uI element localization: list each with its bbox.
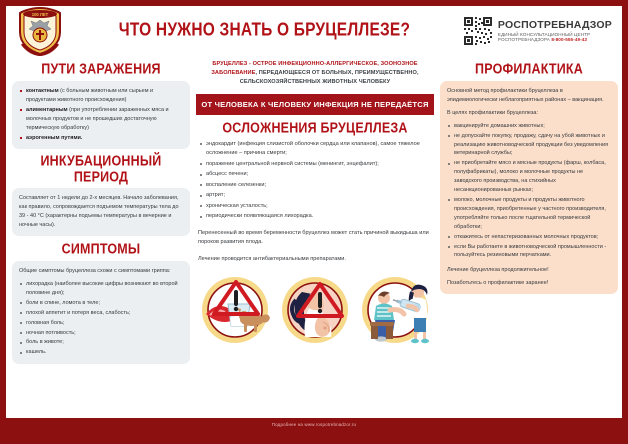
list-item: хроническая усталость; [198,202,432,212]
prevention-list: вакцинируйте домашних животных; не допус… [447,122,611,261]
transmission-card: контактным (с больным животным или сырье… [12,81,190,149]
incubation-text: Составляет от 1 недели до 2-х месяцев. Н… [19,194,183,230]
complications-list: эндокардит (инфекция слизистой оболочки … [198,140,432,222]
brand-phone[interactable]: 8-800-555-49-43 [551,37,587,42]
column-middle: БРУЦЕЛЛЕЗ - ОСТРОЕ ИНФЕКЦИОННО-АЛЛЕРГИЧЕ… [196,56,434,364]
treatment-note: Лечение проводится антибактериальными пр… [198,255,432,265]
symptoms-title: СИМПТОМЫ [12,241,190,257]
brand-text-block: РОСПОТРЕБНАДЗОР ЕДИНЫЙ КОНСУЛЬТАЦИОННЫЙ … [498,20,612,42]
prevention-list-intro: В целях профилактики бруцеллеза: [447,109,611,118]
footer-text[interactable]: Подробнее на www.rospotrebnadzor.ru [272,422,356,427]
pregnancy-note: Перенесенный во время беременности бруце… [198,229,432,248]
column-right: ПРОФИЛАКТИКА Основной метод профилактики… [440,56,618,364]
no-human-transmission-banner: ОТ ЧЕЛОВЕКА К ЧЕЛОВЕКУ ИНФЕКЦИЯ НЕ ПЕРЕД… [196,94,434,115]
complications-list-wrap: эндокардит (инфекция слизистой оболочки … [196,140,434,222]
poster-footer: Подробнее на www.rospotrebnadzor.ru [6,418,622,430]
list-item: контактным (с больным животным или сырье… [19,87,183,105]
rospotrebnadzor-emblem-icon: 100 ЛЕТ [14,6,66,56]
list-item: периодически появляющаяся лихорадка. [198,212,432,222]
list-item: головная боль; [19,319,183,328]
list-item: вакцинируйте домашних животных; [447,122,611,131]
prevention-intro: Основной метод профилактики бруцеллеза в… [447,87,611,105]
prevention-closing-2: Позаботьтесь о профилактике заранее! [447,279,611,288]
poster-sheet: 100 ЛЕТ ЧТО НУЖНО ЗНАТЬ О БРУЦЕЛЛЕЗЕ? [6,6,622,430]
poster-header: 100 ЛЕТ ЧТО НУЖНО ЗНАТЬ О БРУЦЕЛЛЕЗЕ? [6,6,622,56]
list-item: молоко, молочные продукты и продукты жив… [447,196,611,232]
list-item: кашель. [19,348,183,357]
svg-text:100 ЛЕТ: 100 ЛЕТ [32,12,49,17]
complications-title: ОСЛОЖНЕНИЯ БРУЦЕЛЛЕЗА [196,120,434,136]
list-item: алиментарным (при употреблении зараженны… [19,106,183,133]
prevention-card: Основной метод профилактики бруцеллеза в… [440,81,618,294]
symptoms-list: лихорадка (наиболее высокие цифры возник… [19,280,183,357]
list-item: откажитесь от непастеризованных молочных… [447,233,611,242]
list-item: не приобретайте мясо и мясные продукты (… [447,159,611,195]
incubation-title: ИНКУБАЦИОННЫЙ ПЕРИОД [12,153,190,185]
rospotrebnadzor-brand: РОСПОТРЕБНАДЗОР ЕДИНЫЙ КОНСУЛЬТАЦИОННЫЙ … [463,16,612,46]
brand-subtitle-line2: РОСПОТРЕБНАДЗОРА 8-800-555-49-43 [498,37,612,42]
list-item: аэрогенным путями. [19,134,183,143]
column-left: ПУТИ ЗАРАЖЕНИЯ контактным (с больным жив… [12,56,190,364]
symptoms-intro: Общие симптомы бруцеллеза схожи с симпто… [19,267,183,276]
symptoms-card: Общие симптомы бруцеллеза схожи с симпто… [12,261,190,364]
pregnant-woman-warning-illustration [276,270,354,348]
list-item: боли в спине, ломота в теле; [19,299,183,308]
page-title: ЧТО НУЖНО ЗНАТЬ О БРУЦЕЛЛЕЗЕ? [66,20,463,41]
prevention-closing-1: Лечение бруцеллеза продолжительное! [447,266,611,275]
list-item: воспаление селезенки; [198,181,432,191]
transmission-list: контактным (с больным животным или сырье… [19,87,183,142]
list-item: абсцесс печени; [198,170,432,180]
list-item: ночная потливость; [19,329,183,338]
prevention-title: ПРОФИЛАКТИКА [440,61,618,77]
item-bold: аэрогенным путями. [26,135,82,141]
item-bold: алиментарным [26,107,68,113]
transmission-title: ПУТИ ЗАРАЖЕНИЯ [12,61,190,77]
list-item: артрит; [198,191,432,201]
qr-code-icon[interactable] [463,16,493,46]
disease-definition: БРУЦЕЛЛЕЗ - ОСТРОЕ ИНФЕКЦИОННО-АЛЛЕРГИЧЕ… [196,56,434,87]
definition-rest: , ПЕРЕДАЮЩЕЕСЯ ОТ БОЛЬНЫХ, ПРЕИМУЩЕСТВЕН… [240,70,419,85]
list-item: эндокардит (инфекция слизистой оболочки … [198,140,432,159]
list-item: боль в животе; [19,338,183,347]
list-item: не допускайте покупку, продажу, сдачу на… [447,132,611,159]
item-bold: контактным [26,88,59,94]
list-item: лихорадка (наиболее высокие цифры возник… [19,280,183,298]
poster-columns: ПУТИ ЗАРАЖЕНИЯ контактным (с больным жив… [6,56,622,364]
brand-name: РОСПОТРЕБНАДЗОР [498,20,612,32]
meat-milk-dog-warning-illustration [196,270,274,348]
vaccination-illustration [356,270,434,348]
list-item: плохой аппетит и потеря веса, слабость; [19,309,183,318]
brand-subtitle-org: РОСПОТРЕБНАДЗОРА [498,37,550,42]
incubation-card: Составляет от 1 недели до 2-х месяцев. Н… [12,188,190,236]
poster-root: 100 ЛЕТ ЧТО НУЖНО ЗНАТЬ О БРУЦЕЛЛЕЗЕ? [0,0,628,444]
illustration-row [196,270,434,348]
list-item: поражение центральной нервной системы (м… [198,160,432,170]
list-item: если Вы работаете в животноводческой про… [447,243,611,261]
